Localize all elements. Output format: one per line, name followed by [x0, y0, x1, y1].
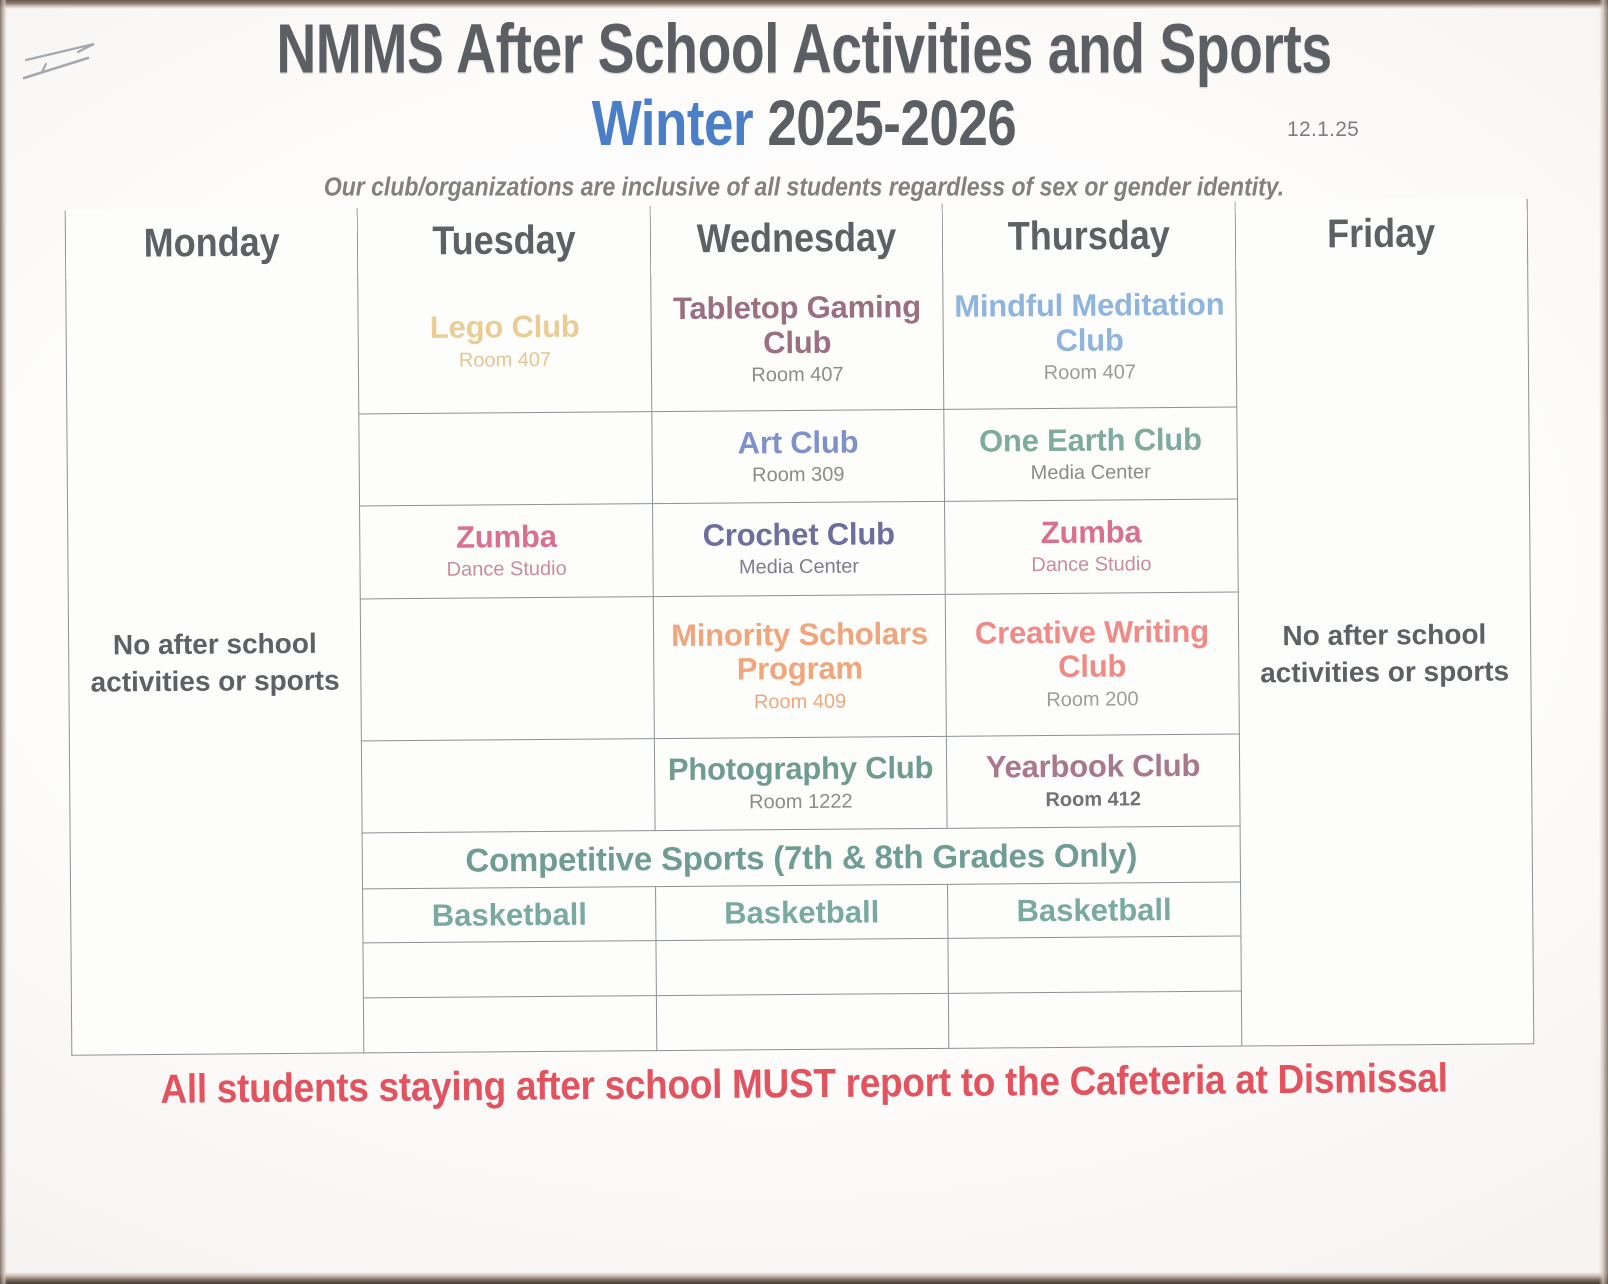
activity-title: Tabletop Gaming Club [651, 290, 943, 362]
activity-title: Yearbook Club [947, 749, 1239, 786]
activity-title: Zumba [945, 514, 1237, 551]
empty-cell-tuesday [362, 739, 655, 833]
sport-name: Basketball [364, 896, 656, 934]
activity-title: Creative Writing Club [946, 614, 1238, 686]
empty-cell-tuesday [359, 412, 652, 506]
activity-cell-crochet-club: Crochet ClubMedia Center [652, 502, 945, 596]
activity-cell-lego-club: Lego ClubRoom 407 [358, 270, 651, 415]
sport-name: Basketball [656, 894, 948, 932]
activity-title: Lego Club [359, 309, 651, 346]
sport-cell-wednesday: Basketball [655, 885, 948, 941]
activity-cell-minority-scholars-program: Minority Scholars ProgramRoom 409 [653, 594, 946, 739]
activity-location: Room 200 [947, 687, 1239, 714]
activity-cell-zumba: ZumbaDance Studio [945, 500, 1238, 594]
activity-title: Mindful Meditation Club [944, 288, 1236, 360]
activity-title: Crochet Club [653, 517, 945, 554]
scan-edge-bottom [0, 1272, 1608, 1284]
activity-title: Zumba [361, 519, 653, 556]
activity-cell-tabletop-gaming-club: Tabletop Gaming ClubRoom 407 [650, 267, 943, 412]
empty-cell-tuesday [363, 941, 656, 998]
monday-no-activities-cell: No after school activities or sports [66, 272, 365, 1055]
activity-title: Photography Club [655, 751, 947, 788]
activity-cell-one-earth-club: One Earth ClubMedia Center [944, 407, 1237, 501]
flyer-header: NMMS After School Activities and Sports … [0, 14, 1608, 146]
activity-cell-photography-club: Photography ClubRoom 1222 [654, 736, 947, 830]
activity-cell-zumba: ZumbaDance Studio [360, 504, 653, 598]
school-year-label: 2025-2026 [767, 89, 1016, 160]
empty-cell-thursday [948, 936, 1241, 993]
activity-location: Room 412 [947, 786, 1239, 813]
activity-location: Room 409 [654, 689, 946, 716]
empty-cell-wednesday [656, 938, 949, 995]
day-header-tuesday: Tuesday [358, 203, 651, 276]
sport-cell-tuesday: Basketball [363, 887, 656, 943]
activity-cell-creative-writing-club: Creative Writing ClubRoom 200 [945, 592, 1238, 737]
page-subtitle: Winter 2025-2026 [0, 92, 1608, 157]
day-header-row: MondayTuesdayWednesdayThursdayFriday [65, 200, 1527, 274]
activity-location: Room 309 [652, 462, 944, 489]
scan-edge-top [0, 0, 1608, 9]
activity-location: Room 1222 [655, 789, 947, 816]
activity-title: One Earth Club [945, 422, 1237, 459]
weekly-schedule-table: MondayTuesdayWednesdayThursdayFridayNo a… [65, 199, 1535, 1055]
day-header-thursday: Thursday [942, 198, 1235, 271]
empty-cell-tuesday [364, 996, 657, 1053]
competitive-sports-header-label: Competitive Sports (7th & 8th Grades Onl… [363, 835, 1239, 880]
activity-title: Art Club [652, 424, 944, 461]
activity-cell-art-club: Art ClubRoom 309 [652, 410, 945, 504]
activity-location: Room 407 [359, 347, 651, 374]
weekly-schedule-table-wrapper: MondayTuesdayWednesdayThursdayFridayNo a… [65, 199, 1535, 1055]
competitive-sports-header-cell: Competitive Sports (7th & 8th Grades Onl… [362, 826, 1240, 889]
friday-no-activities-cell: No after school activities or sports [1235, 263, 1534, 1046]
day-header-monday: Monday [65, 205, 358, 278]
activity-location: Dance Studio [946, 552, 1238, 579]
schedule-row: No after school activities or sportsLego… [66, 263, 1529, 417]
season-label: Winter [592, 89, 768, 160]
activity-location: Media Center [653, 554, 945, 581]
empty-cell-tuesday [361, 596, 654, 741]
activity-cell-mindful-meditation-club: Mindful Meditation ClubRoom 407 [943, 265, 1236, 410]
dismissal-notice: All students staying after school MUST r… [0, 1054, 1608, 1114]
sport-cell-thursday: Basketball [948, 882, 1241, 938]
sport-name: Basketball [948, 891, 1240, 929]
document-date: 12.1.25 [1287, 118, 1359, 142]
empty-cell-thursday [949, 991, 1242, 1048]
activity-location: Room 407 [944, 360, 1236, 387]
activity-location: Media Center [945, 460, 1237, 487]
day-header-wednesday: Wednesday [650, 201, 943, 274]
scanned-flyer-page: NMMS After School Activities and Sports … [0, 0, 1608, 1284]
day-header-friday: Friday [1235, 196, 1528, 269]
page-title: NMMS After School Activities and Sports [24, 14, 1584, 85]
activity-title: Minority Scholars Program [654, 616, 946, 688]
empty-cell-wednesday [656, 993, 949, 1050]
activity-location: Room 407 [652, 362, 944, 389]
activity-cell-yearbook-club: Yearbook ClubRoom 412 [947, 734, 1240, 828]
activity-location: Dance Studio [361, 557, 653, 584]
